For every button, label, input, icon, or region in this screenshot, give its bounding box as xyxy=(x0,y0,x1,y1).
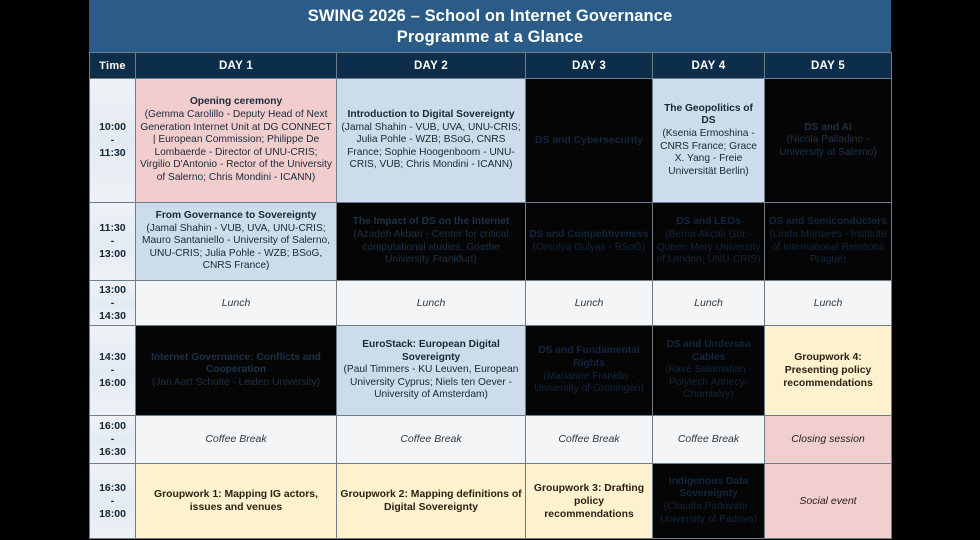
session-title: Internet Governance: Conflicts and Coope… xyxy=(139,352,333,377)
session-speakers: (Orsolya Gulyas - BSoG) xyxy=(529,242,649,255)
table-row: 13:00-14:30LunchLunchLunchLunchLunch xyxy=(90,281,892,326)
session-title: Introduction to Digital Sovereignty xyxy=(340,109,522,122)
session-cell-day4[interactable]: Indigenous Data Sovereignty(Claudia Pado… xyxy=(653,464,765,539)
session-title: Groupwork 4: Presenting policy recommend… xyxy=(768,351,888,390)
session-title: Lunch xyxy=(656,297,761,310)
table-row: 14:30-16:00Internet Governance: Conflict… xyxy=(90,326,892,416)
session-title: Coffee Break xyxy=(529,433,649,446)
time-start: 16:30 xyxy=(93,482,132,495)
session-speakers: (Nicola Palladino - University of Salern… xyxy=(768,134,888,159)
page-title: SWING 2026 – School on Internet Governan… xyxy=(308,6,673,27)
session-cell-day1[interactable]: Groupwork 1: Mapping IG actors, issues a… xyxy=(136,464,337,539)
session-title: Indigenous Data Sovereignty xyxy=(656,476,761,501)
session-title: DS and Fundamental Rights xyxy=(529,345,649,370)
session-cell-day2[interactable]: Coffee Break xyxy=(337,416,526,464)
session-speakers: (Azadeh Akbari - Center for critical com… xyxy=(340,229,522,267)
session-title: DS and AI xyxy=(768,122,888,135)
session-title: DS and LEOs xyxy=(656,216,761,229)
session-speakers: (Kavé Salamatian - Polytech Annecy-Chamb… xyxy=(656,364,761,402)
time-slot-cell: 14:30-16:00 xyxy=(90,326,136,416)
time-slot-cell: 16:00-16:30 xyxy=(90,416,136,464)
table-row: 16:30-18:00Groupwork 1: Mapping IG actor… xyxy=(90,464,892,539)
session-cell-day3[interactable]: DS and Cybersecurity xyxy=(526,79,653,203)
session-speakers: (Claudia Padovani - University of Padova… xyxy=(656,501,761,526)
slide-title-banner: SWING 2026 – School on Internet Governan… xyxy=(89,0,891,52)
time-end: 16:00 xyxy=(93,377,132,390)
session-title: Lunch xyxy=(768,297,888,310)
time-dash: - xyxy=(93,297,132,310)
session-cell-day5[interactable]: Closing session xyxy=(765,416,892,464)
session-title: Lunch xyxy=(340,297,522,310)
session-cell-day1[interactable]: Coffee Break xyxy=(136,416,337,464)
session-title: From Governance to Sovereignty xyxy=(139,210,333,223)
column-header-day3: DAY 3 xyxy=(526,53,653,79)
session-cell-day5[interactable]: Groupwork 4: Presenting policy recommend… xyxy=(765,326,892,416)
session-cell-day5[interactable]: Lunch xyxy=(765,281,892,326)
session-cell-day1[interactable]: Opening ceremony(Gemma Carolillo - Deput… xyxy=(136,79,337,203)
session-cell-day4[interactable]: Lunch xyxy=(653,281,765,326)
time-end: 13:00 xyxy=(93,248,132,261)
session-cell-day2[interactable]: The Impact of DS on the Internet(Azadeh … xyxy=(337,203,526,281)
time-dash: - xyxy=(93,495,132,508)
session-cell-day4[interactable]: DS and LEOs(Berna Akçalı Gür - Queen Mar… xyxy=(653,203,765,281)
session-cell-day2[interactable]: Introduction to Digital Sovereignty(Jama… xyxy=(337,79,526,203)
session-title: DS and Undersea Cables xyxy=(656,339,761,364)
session-cell-day3[interactable]: DS and Competitiveness(Orsolya Gulyas - … xyxy=(526,203,653,281)
session-speakers: (Paul Timmers - KU Leuven, European Univ… xyxy=(340,364,522,402)
time-start: 14:30 xyxy=(93,351,132,364)
session-speakers: (Gemma Carolillo - Deputy Head of Next G… xyxy=(139,109,333,185)
session-cell-day1[interactable]: Internet Governance: Conflicts and Coope… xyxy=(136,326,337,416)
time-start: 16:00 xyxy=(93,420,132,433)
session-title: EuroStack: European Digital Sovereignty xyxy=(340,339,522,364)
session-cell-day4[interactable]: DS and Undersea Cables(Kavé Salamatian -… xyxy=(653,326,765,416)
page-subtitle: Programme at a Glance xyxy=(397,27,583,48)
session-speakers: (Jamal Shahin - VUB, UVA, UNU-CRIS; Juli… xyxy=(340,122,522,172)
session-cell-day3[interactable]: Coffee Break xyxy=(526,416,653,464)
time-end: 18:00 xyxy=(93,508,132,521)
session-title: Coffee Break xyxy=(139,433,333,446)
session-title: Opening ceremony xyxy=(139,96,333,109)
session-cell-day2[interactable]: Groupwork 2: Mapping definitions of Digi… xyxy=(337,464,526,539)
session-cell-day3[interactable]: DS and Fundamental Rights(Marianne Frank… xyxy=(526,326,653,416)
time-end: 11:30 xyxy=(93,147,132,160)
time-dash: - xyxy=(93,134,132,147)
column-header-day4: DAY 4 xyxy=(653,53,765,79)
session-cell-day3[interactable]: Groupwork 3: Drafting policy recommendat… xyxy=(526,464,653,539)
column-header-day5: DAY 5 xyxy=(765,53,892,79)
session-cell-day4[interactable]: Coffee Break xyxy=(653,416,765,464)
time-end: 16:30 xyxy=(93,446,132,459)
session-title: Lunch xyxy=(139,297,333,310)
time-dash: - xyxy=(93,235,132,248)
session-title: Social event xyxy=(768,495,888,508)
time-dash: - xyxy=(93,364,132,377)
session-speakers: (Jan Aart Scholte - Leiden University) xyxy=(139,377,333,390)
session-speakers: (Jamal Shahin - VUB, UVA, UNU-CRIS; Maur… xyxy=(139,223,333,273)
session-speakers: (Linda Monsees - Institute of Internatio… xyxy=(768,229,888,267)
presentation-slide: SWING 2026 – School on Internet Governan… xyxy=(89,0,891,540)
session-title: DS and Competitiveness xyxy=(529,229,649,242)
table-row: 11:30-13:00From Governance to Sovereignt… xyxy=(90,203,892,281)
session-title: Groupwork 1: Mapping IG actors, issues a… xyxy=(139,488,333,514)
session-title: Closing session xyxy=(768,433,888,446)
time-slot-cell: 13:00-14:30 xyxy=(90,281,136,326)
session-cell-day5[interactable]: DS and Semiconductors(Linda Monsees - In… xyxy=(765,203,892,281)
session-title: Groupwork 2: Mapping definitions of Digi… xyxy=(340,488,522,514)
column-header-day1: DAY 1 xyxy=(136,53,337,79)
session-speakers: (Berna Akçalı Gür - Queen Mary Universit… xyxy=(656,229,761,267)
session-cell-day5[interactable]: Social event xyxy=(765,464,892,539)
session-cell-day1[interactable]: From Governance to Sovereignty(Jamal Sha… xyxy=(136,203,337,281)
time-dash: - xyxy=(93,433,132,446)
session-title: DS and Cybersecurity xyxy=(529,134,649,147)
table-body: 10:00-11:30Opening ceremony(Gemma Caroli… xyxy=(90,79,892,539)
time-slot-cell: 10:00-11:30 xyxy=(90,79,136,203)
session-cell-day2[interactable]: EuroStack: European Digital Sovereignty(… xyxy=(337,326,526,416)
session-title: Coffee Break xyxy=(340,433,522,446)
session-title: Lunch xyxy=(529,297,649,310)
session-cell-day2[interactable]: Lunch xyxy=(337,281,526,326)
session-title: The Impact of DS on the Internet xyxy=(340,216,522,229)
column-header-time: Time xyxy=(90,53,136,79)
time-start: 13:00 xyxy=(93,284,132,297)
session-title: The Geopolitics of DS xyxy=(656,103,761,128)
time-start: 10:00 xyxy=(93,121,132,134)
session-cell-day5[interactable]: DS and AI(Nicola Palladino - University … xyxy=(765,79,892,203)
session-cell-day3[interactable]: Lunch xyxy=(526,281,653,326)
slide-canvas: SWING 2026 – School on Internet Governan… xyxy=(0,0,980,540)
session-title: Groupwork 3: Drafting policy recommendat… xyxy=(529,482,649,521)
header-row: Time DAY 1 DAY 2 DAY 3 DAY 4 DAY 5 xyxy=(90,53,892,79)
time-end: 14:30 xyxy=(93,310,132,323)
session-title: DS and Semiconductors xyxy=(768,216,888,229)
table-header: Time DAY 1 DAY 2 DAY 3 DAY 4 DAY 5 xyxy=(90,53,892,79)
table-row: 16:00-16:30Coffee BreakCoffee BreakCoffe… xyxy=(90,416,892,464)
session-cell-day1[interactable]: Lunch xyxy=(136,281,337,326)
session-speakers: (Marianne Franklin - University of Groni… xyxy=(529,371,649,396)
time-slot-cell: 16:30-18:00 xyxy=(90,464,136,539)
column-header-day2: DAY 2 xyxy=(337,53,526,79)
table-row: 10:00-11:30Opening ceremony(Gemma Caroli… xyxy=(90,79,892,203)
time-slot-cell: 11:30-13:00 xyxy=(90,203,136,281)
session-speakers: (Ksenia Ermoshina - CNRS France; Grace X… xyxy=(656,128,761,178)
session-title: Coffee Break xyxy=(656,433,761,446)
time-start: 11:30 xyxy=(93,222,132,235)
programme-table: Time DAY 1 DAY 2 DAY 3 DAY 4 DAY 5 10:00… xyxy=(89,52,892,539)
session-cell-day4[interactable]: The Geopolitics of DS(Ksenia Ermoshina -… xyxy=(653,79,765,203)
